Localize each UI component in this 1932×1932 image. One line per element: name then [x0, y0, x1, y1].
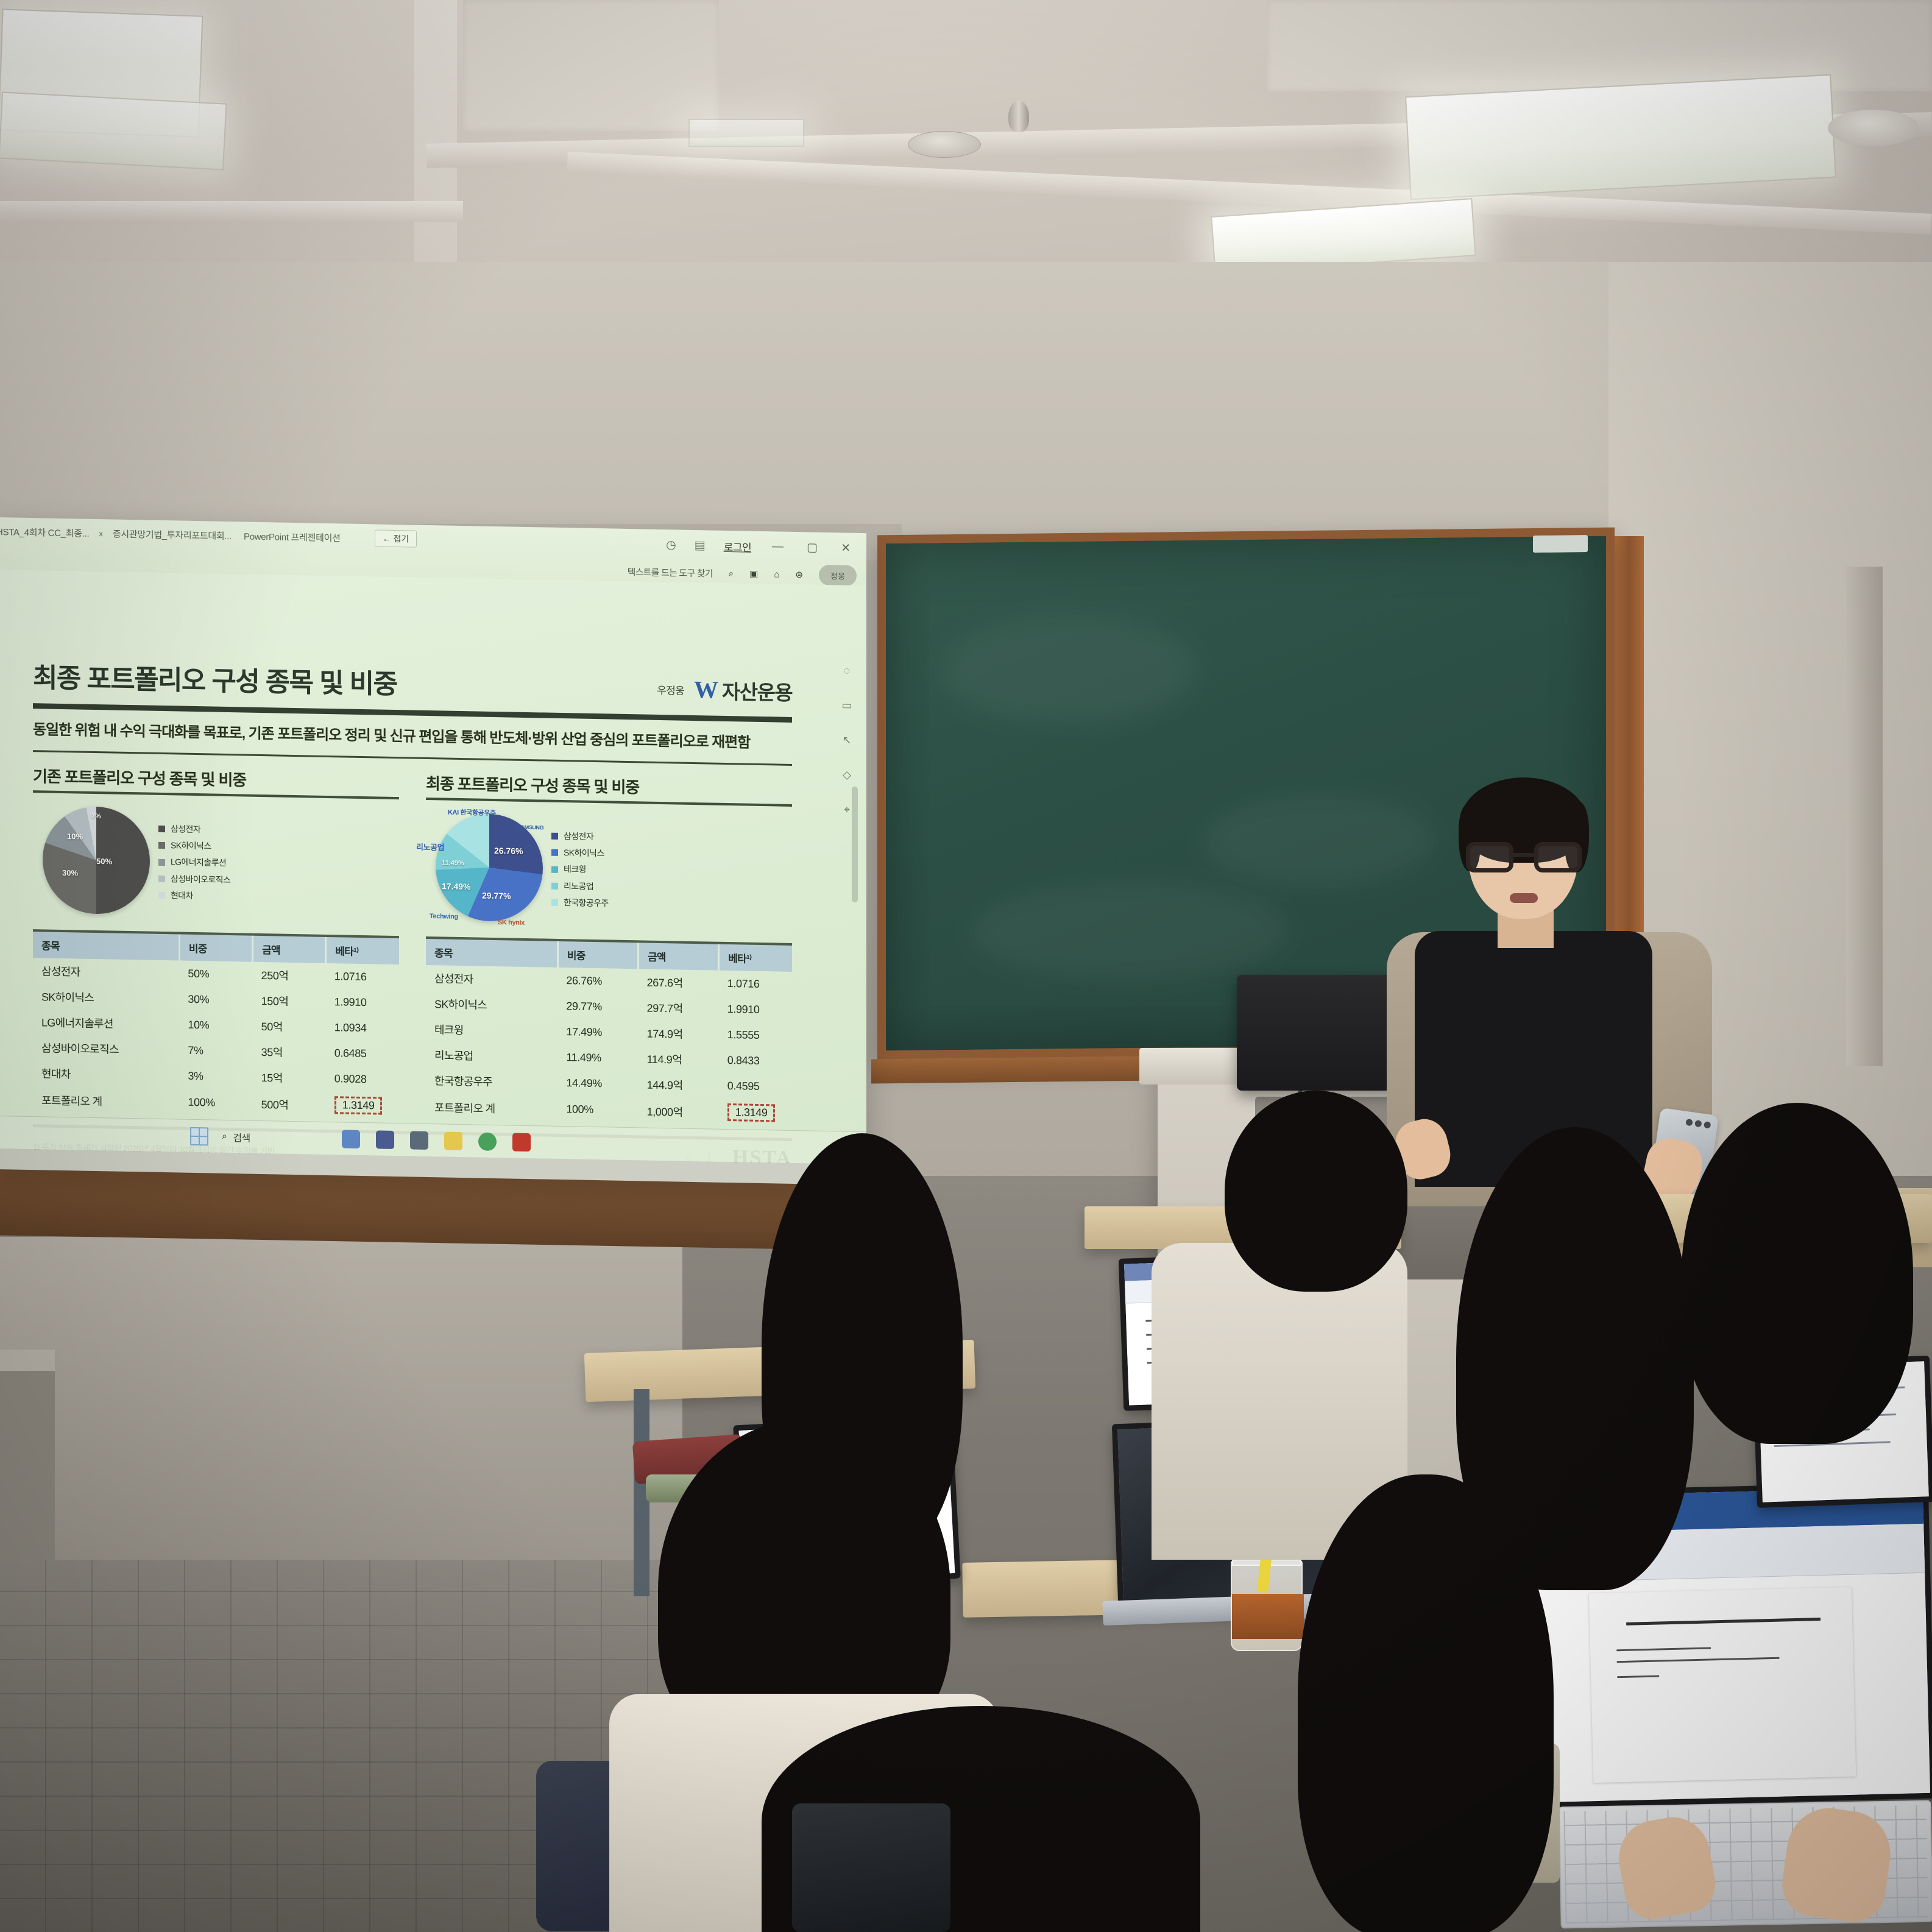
col-header-name: 종목 [33, 930, 179, 960]
share-icon[interactable]: ⌂ [774, 569, 779, 579]
table-row-total: 포트폴리오 계100%500억1.3149 [33, 1086, 399, 1120]
right-chart-row: 26.76% 29.77% 17.49% 11.49% KAI 한국항공우주 리… [426, 807, 792, 933]
shapes-icon[interactable]: ◇ [843, 768, 851, 781]
legend-item: LG에너지솔루션 [158, 854, 230, 871]
cell-weight: 17.49% [557, 1019, 638, 1046]
cell-weight: 50% [179, 961, 252, 988]
globe-icon[interactable]: ⊜ [795, 569, 803, 580]
slide-header: 최종 포트폴리오 구성 종목 및 비중 우정웅 W 자산운용 [33, 656, 792, 709]
cell-beta: 1.9910 [719, 996, 792, 1023]
comment-icon[interactable]: ◌ [844, 665, 851, 678]
taskbar-search[interactable]: ⌕ 검색 [222, 1129, 250, 1144]
eyeglasses-icon [1466, 842, 1582, 874]
brand-block: 우정웅 W 자산운용 [657, 674, 792, 709]
sprinkler-head-icon [1008, 101, 1029, 132]
board-label-card [1533, 535, 1588, 553]
search-icon: ⌕ [222, 1131, 227, 1142]
cell-weight: 3% [179, 1063, 252, 1090]
browser-tab[interactable]: HSTA_4회차 CC_최종... [0, 525, 95, 539]
cell-weight: 30% [179, 986, 252, 1013]
brand-mark-icon: W [694, 679, 718, 701]
projection-screen: HSTA_4회차 CC_최종... x 증시관망기법_투자리포트대회... Po… [0, 517, 866, 1185]
legend-label: 현대차 [171, 887, 193, 904]
avatar[interactable]: 정웅 [819, 565, 857, 586]
explorer-icon[interactable] [342, 1130, 360, 1148]
pie-label: 11.49% [442, 859, 464, 867]
col-header-weight: 비중 [179, 933, 252, 962]
vertical-scrollbar[interactable] [852, 787, 858, 902]
subtitle-divider [33, 750, 792, 766]
cell-beta: 1.0934 [326, 1014, 399, 1041]
cell-amount: 50억 [253, 1013, 326, 1040]
annotation-skhynix: SK hynix [498, 919, 525, 927]
col-header-weight: 비중 [557, 940, 638, 969]
slide-title: 최종 포트폴리오 구성 종목 및 비중 [33, 656, 397, 701]
restore-button[interactable]: ▢ [804, 540, 820, 554]
signin-link[interactable]: 로그인 [724, 538, 751, 554]
cell-name: 한국항공우주 [426, 1067, 557, 1095]
cell-amount: 174.9억 [639, 1020, 719, 1047]
pdf-icon[interactable] [512, 1133, 531, 1152]
annotation-techwing: Techwing [430, 913, 458, 921]
legend-item: 테크윙 [551, 861, 609, 879]
browser-tab[interactable]: 증시관망기법_투자리포트대회... [107, 527, 238, 542]
legend-label: 리노공업 [564, 878, 593, 895]
cell-beta: 0.4595 [719, 1073, 792, 1100]
cup-sleeve [1232, 1594, 1304, 1639]
cell-name: 삼성전자 [426, 965, 557, 993]
brand-name: 자산운용 [722, 676, 792, 706]
legend-label: 삼성바이오로직스 [171, 871, 230, 888]
cell-beta: 0.8433 [719, 1047, 792, 1074]
tablet-device[interactable] [792, 1803, 950, 1932]
existing-portfolio-table: 종목 비중 금액 베타¹⁾ 삼성전자50%250억1.0716 SK하이닉스30… [33, 929, 399, 1120]
legend-label: 테크윙 [564, 862, 586, 879]
ceiling-beam [0, 201, 463, 222]
col-header-beta: 베타¹⁾ [326, 936, 399, 964]
lower-wall [0, 1237, 682, 1578]
cell-name: 테크윙 [426, 1016, 557, 1044]
cell-weight: 14.49% [557, 1070, 638, 1097]
legend-label: 한국항공우주 [564, 894, 609, 912]
pie-label: 7% [91, 813, 101, 820]
column-final-portfolio: 최종 포트폴리오 구성 종목 및 비중 26.76% 29.77% 17.49%… [426, 771, 792, 1127]
annotation-samsung: SAMSUNG [517, 824, 543, 831]
cell-name: 삼성전자 [33, 958, 179, 986]
legend-item: 현대차 [158, 887, 230, 905]
annotation-rino: 리노공업 [416, 841, 444, 853]
legend-item: 한국항공우주 [551, 894, 609, 912]
legend-item: SK하이닉스 [158, 837, 230, 855]
legend-label: 삼성전자 [564, 828, 593, 845]
legend-item: 삼성전자 [551, 828, 609, 846]
minimize-button[interactable]: — [770, 540, 786, 553]
cell-weight: 7% [179, 1038, 252, 1064]
annotation-kai: KAI 한국항공우주 [448, 807, 496, 818]
legend-label: LG에너지솔루션 [171, 854, 226, 872]
windows-icon[interactable] [190, 1127, 208, 1145]
smoke-detector-icon [1828, 110, 1919, 146]
wall-column [1846, 567, 1883, 1066]
cell-weight: 100% [557, 1095, 638, 1124]
ceiling-light-panel [0, 91, 227, 170]
window-ledge [0, 1350, 55, 1374]
cell-beta: 0.9028 [326, 1066, 399, 1092]
zoom-icon[interactable]: ⌖ [844, 804, 850, 816]
slide-canvas: ◌ ▭ ↖ ◇ ⌖ 최종 포트폴리오 구성 종목 및 비중 우정웅 W 자산운용 [0, 570, 866, 1164]
search-input[interactable]: 텍스트를 드는 도구 찾기 [628, 565, 713, 580]
motion-sensor-icon [908, 131, 981, 158]
cell-name: 포트폴리오 계 [33, 1086, 179, 1116]
tab-close-icon[interactable]: x [95, 528, 107, 537]
col-header-amount: 금액 [639, 941, 719, 970]
ceiling-panel [1267, 0, 1932, 91]
slide-subtitle: 동일한 위험 내 수익 극대화를 목표로, 기존 포트폴리오 정리 및 신규 편… [33, 720, 792, 754]
pointer-icon[interactable]: ↖ [842, 734, 851, 746]
cell-weight: 26.76% [557, 968, 638, 994]
cell-amount: 35억 [253, 1039, 326, 1066]
cell-beta-highlight: 1.3149 [727, 1103, 776, 1122]
ceiling-panel [463, 0, 719, 131]
column-existing-portfolio: 기존 포트폴리오 구성 종목 및 비중 50% 30% 10% 7% [33, 764, 399, 1120]
cell-name: 리노공업 [426, 1042, 557, 1070]
cell-beta: 1.5555 [719, 1022, 792, 1049]
cell-weight: 100% [179, 1089, 252, 1117]
pie-legend-existing: 삼성전자 SK하이닉스 LG에너지솔루션 삼성바이오로직스 현대차 [158, 821, 230, 905]
slide-columns: 기존 포트폴리오 구성 종목 및 비중 50% 30% 10% 7% [33, 764, 792, 1127]
legend-item: 리노공업 [551, 877, 609, 895]
cell-beta: 1.0716 [326, 963, 399, 990]
cell-amount: 500억 [253, 1090, 326, 1119]
history-icon[interactable]: ◷ [666, 538, 676, 552]
close-button[interactable]: ✕ [838, 541, 853, 555]
cell-weight: 29.77% [557, 993, 638, 1020]
legend-label: 삼성전자 [171, 821, 200, 838]
legend-item: SK하이닉스 [551, 844, 609, 862]
legend-label: SK하이닉스 [564, 844, 604, 862]
table-row-total: 포트폴리오 계100%1,000억1.3149 [426, 1093, 792, 1127]
cell-name: LG에너지솔루션 [33, 1009, 179, 1037]
cell-amount: 250억 [253, 962, 326, 989]
pie-chart-final: 26.76% 29.77% 17.49% 11.49% KAI 한국항공우주 리… [426, 809, 548, 927]
lecture-room-scene: HSTA_4회차 CC_최종... x 증시관망기법_투자리포트대회... Po… [0, 0, 1932, 1932]
present-icon[interactable]: ▣ [749, 568, 758, 579]
powerpoint-slide: 최종 포트폴리오 구성 종목 및 비중 우정웅 W 자산운용 동일한 위험 내 … [0, 623, 830, 1164]
right-section-title: 최종 포트폴리오 구성 종목 및 비중 [426, 771, 792, 801]
cell-weight: 10% [179, 1012, 252, 1039]
legend-item: 삼성전자 [158, 821, 230, 838]
pie-label: 29.77% [482, 891, 511, 901]
cell-amount: 297.7억 [639, 994, 719, 1021]
pie-label: 10% [67, 832, 83, 841]
mail-icon[interactable] [410, 1131, 428, 1150]
mouth [1510, 893, 1538, 903]
slide-side-rail: ◌ ▭ ↖ ◇ ⌖ [831, 664, 863, 816]
cell-name: 삼성바이오로직스 [33, 1035, 179, 1063]
cell-amount: 267.6억 [639, 969, 719, 996]
left-section-title: 기존 포트폴리오 구성 종목 및 비중 [33, 764, 399, 793]
note-icon[interactable]: ▭ [841, 699, 852, 712]
legend-label: SK하이닉스 [171, 837, 211, 855]
cell-amount: 15억 [253, 1064, 326, 1091]
comments-icon[interactable]: ▤ [695, 539, 706, 553]
cell-amount: 144.9억 [639, 1071, 719, 1098]
cell-beta: 0.6485 [326, 1040, 399, 1067]
cell-name: 현대차 [33, 1060, 179, 1088]
col-header-name: 종목 [426, 938, 557, 968]
pie-label: 17.49% [442, 881, 470, 891]
col-header-amount: 금액 [253, 935, 326, 963]
cell-amount: 150억 [253, 988, 326, 1014]
cell-weight: 11.49% [557, 1044, 638, 1071]
pie-label: 30% [62, 868, 78, 877]
pie-legend-final: 삼성전자 SK하이닉스 테크윙 리노공업 한국항공우주 [551, 828, 609, 912]
legend-item: 삼성바이오로직스 [158, 871, 230, 888]
final-portfolio-table: 종목 비중 금액 베타¹⁾ 삼성전자26.76%267.6억1.0716 SK하… [426, 936, 792, 1127]
word-document-page [1589, 1587, 1856, 1783]
taskbar-app-icons [342, 1130, 531, 1152]
left-chart-row: 50% 30% 10% 7% 삼성전자 SK하이닉스 LG에너지솔루션 삼성바이… [33, 800, 399, 926]
col-header-beta: 베타¹⁾ [719, 943, 792, 972]
cell-beta: 1.0716 [719, 971, 792, 997]
pie-label: 50% [96, 857, 112, 866]
cell-beta: 1.9910 [326, 989, 399, 1016]
brand-logo: W 자산운용 [694, 675, 792, 706]
cell-amount: 1,000억 [639, 1097, 719, 1125]
search-icon[interactable]: ⌕ [729, 568, 734, 579]
chrome-icon[interactable] [478, 1132, 497, 1151]
teams-icon[interactable] [376, 1130, 394, 1149]
app-tab-label: PowerPoint 프레젠테이션 [238, 529, 347, 544]
cell-name: SK하이닉스 [33, 983, 179, 1011]
wall-pillar [0, 1371, 55, 1566]
ceiling-light-panel [688, 119, 804, 147]
arrow-left-icon: ← [383, 534, 391, 543]
folder-icon[interactable] [444, 1131, 462, 1150]
pie-label: 26.76% [494, 846, 523, 856]
cell-name: SK하이닉스 [426, 991, 557, 1019]
cell-name: 포트폴리오 계 [426, 1093, 557, 1123]
author-name: 우정웅 [657, 681, 684, 697]
cell-amount: 114.9억 [639, 1046, 719, 1072]
pie-chart-existing: 50% 30% 10% 7% [33, 802, 155, 920]
cell-beta-highlight: 1.3149 [334, 1096, 383, 1114]
